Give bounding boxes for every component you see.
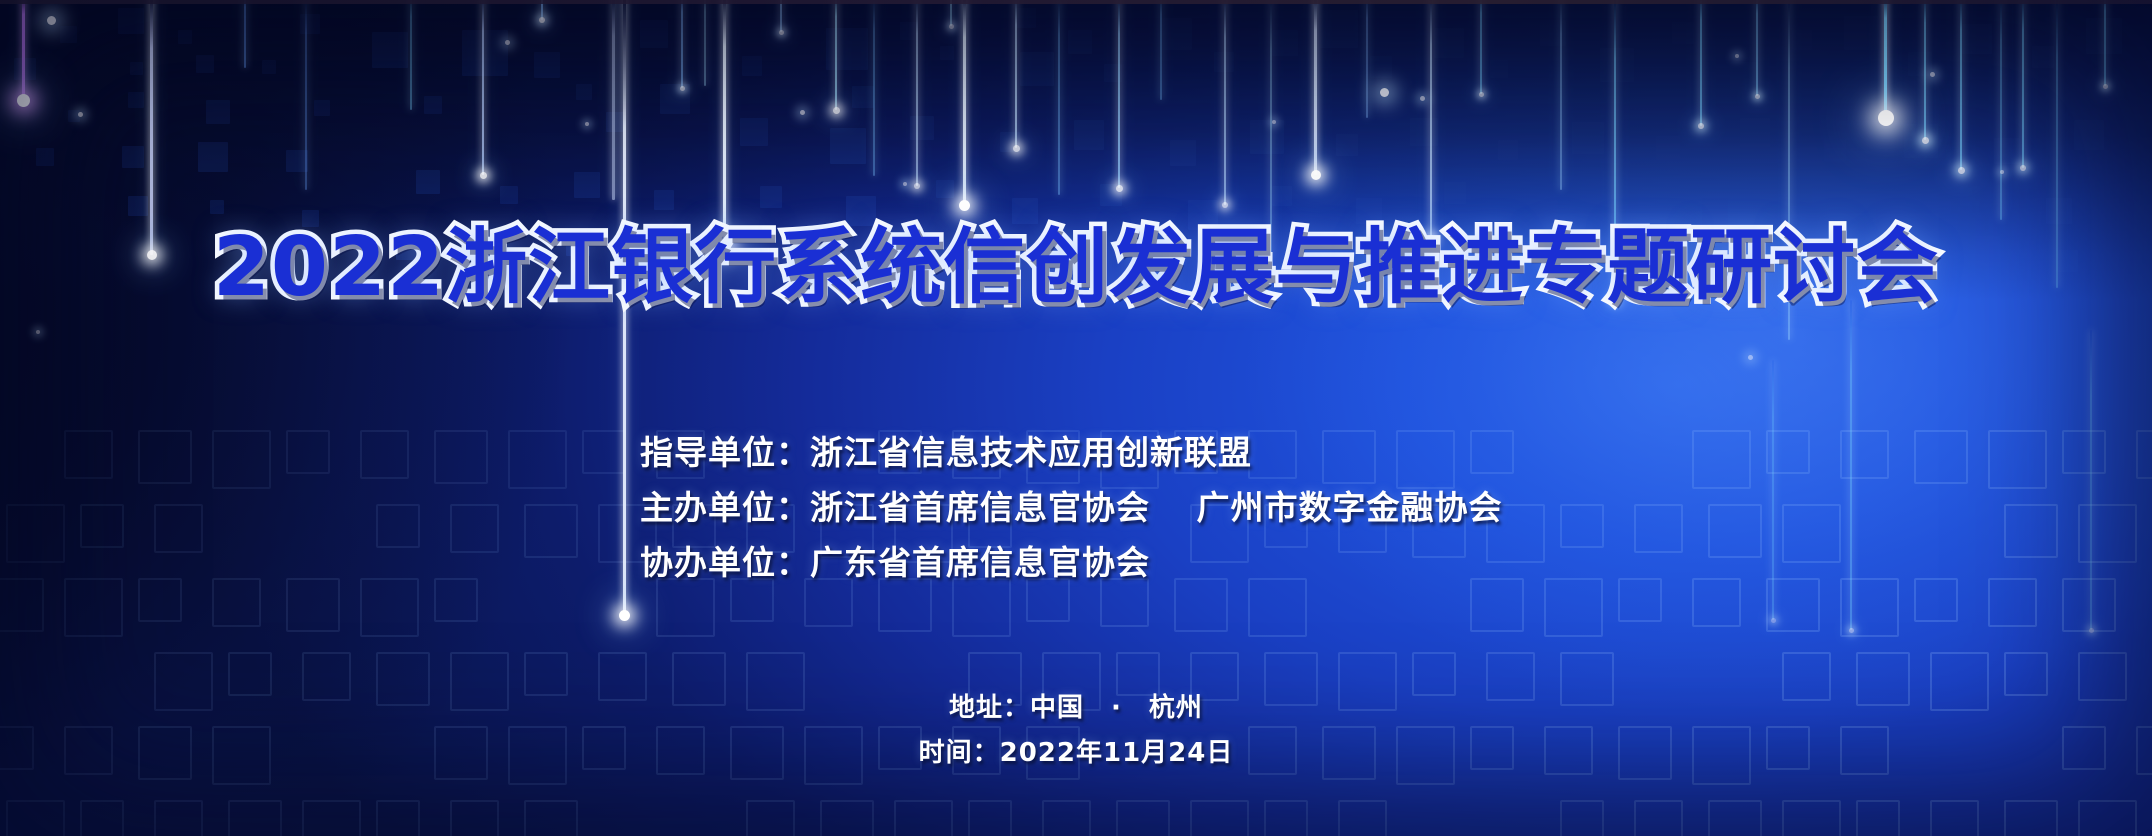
background-top-edge-line <box>0 0 2152 4</box>
event-details-block: 地址：中国 · 杭州 时间：2022年11月24日 <box>0 686 2152 776</box>
organizer-line-host: 主办单位：浙江省首席信息官协会 广州市数字金融协会 <box>640 480 1503 535</box>
event-date: 时间：2022年11月24日 <box>0 731 2152 776</box>
event-location: 地址：中国 · 杭州 <box>0 686 2152 731</box>
conference-banner: 2022浙江银行系统信创发展与推进专题研讨会 指导单位：浙江省信息技术应用创新联… <box>0 0 2152 836</box>
organizer-line-guidance: 指导单位：浙江省信息技术应用创新联盟 <box>640 425 1503 480</box>
organizer-block: 指导单位：浙江省信息技术应用创新联盟 主办单位：浙江省首席信息官协会 广州市数字… <box>640 425 1503 590</box>
organizer-line-co-host: 协办单位：广东省首席信息官协会 <box>640 535 1503 590</box>
